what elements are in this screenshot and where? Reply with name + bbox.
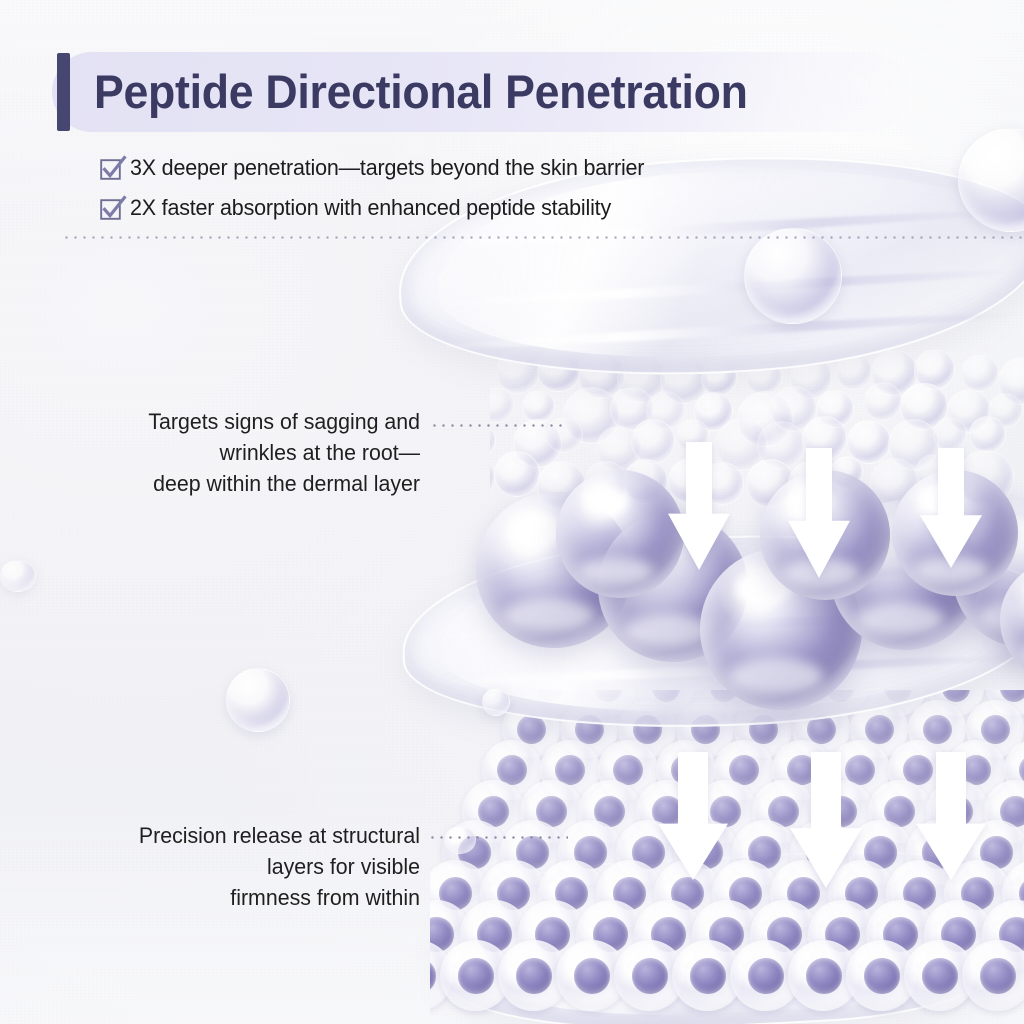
- list-item-label: 3X deeper penetration—targets beyond the…: [130, 155, 644, 181]
- arrow-down-icon: [658, 752, 728, 880]
- annotation-leader-upper: [430, 424, 565, 427]
- arrow-down-icon: [668, 442, 730, 570]
- infographic-canvas: Peptide Directional Penetration 3X deepe…: [0, 0, 1024, 1024]
- annotation-upper: Targets signs of sagging and wrinkles at…: [40, 406, 420, 499]
- annotation-line: firmness from within: [32, 882, 420, 913]
- annotation-line: Targets signs of sagging and: [51, 406, 420, 437]
- annotation-lower: Precision release at structural layers f…: [20, 820, 420, 913]
- benefit-list: 3X deeper penetration—targets beyond the…: [100, 150, 669, 230]
- list-item-label: 2X faster absorption with enhanced pepti…: [130, 195, 611, 221]
- annotation-line: Precision release at structural: [32, 820, 420, 851]
- checkbox-checked-icon: [100, 158, 121, 179]
- list-item: 3X deeper penetration—targets beyond the…: [100, 150, 669, 186]
- annotation-line: wrinkles at the root—: [51, 437, 420, 468]
- arrow-down-icon: [920, 448, 982, 568]
- list-item: 2X faster absorption with enhanced pepti…: [100, 190, 669, 226]
- arrow-down-icon: [790, 752, 862, 888]
- annotation-leader-lower: [428, 836, 568, 839]
- arrow-down-icon: [788, 448, 850, 578]
- arrow-down-icon: [916, 752, 986, 880]
- dotted-divider: [62, 236, 1022, 239]
- annotation-line: layers for visible: [32, 851, 420, 882]
- annotation-line: deep within the dermal layer: [51, 468, 420, 499]
- checkbox-checked-icon: [100, 198, 121, 219]
- title-accent-bar: [57, 53, 70, 131]
- page-title: Peptide Directional Penetration: [94, 52, 748, 132]
